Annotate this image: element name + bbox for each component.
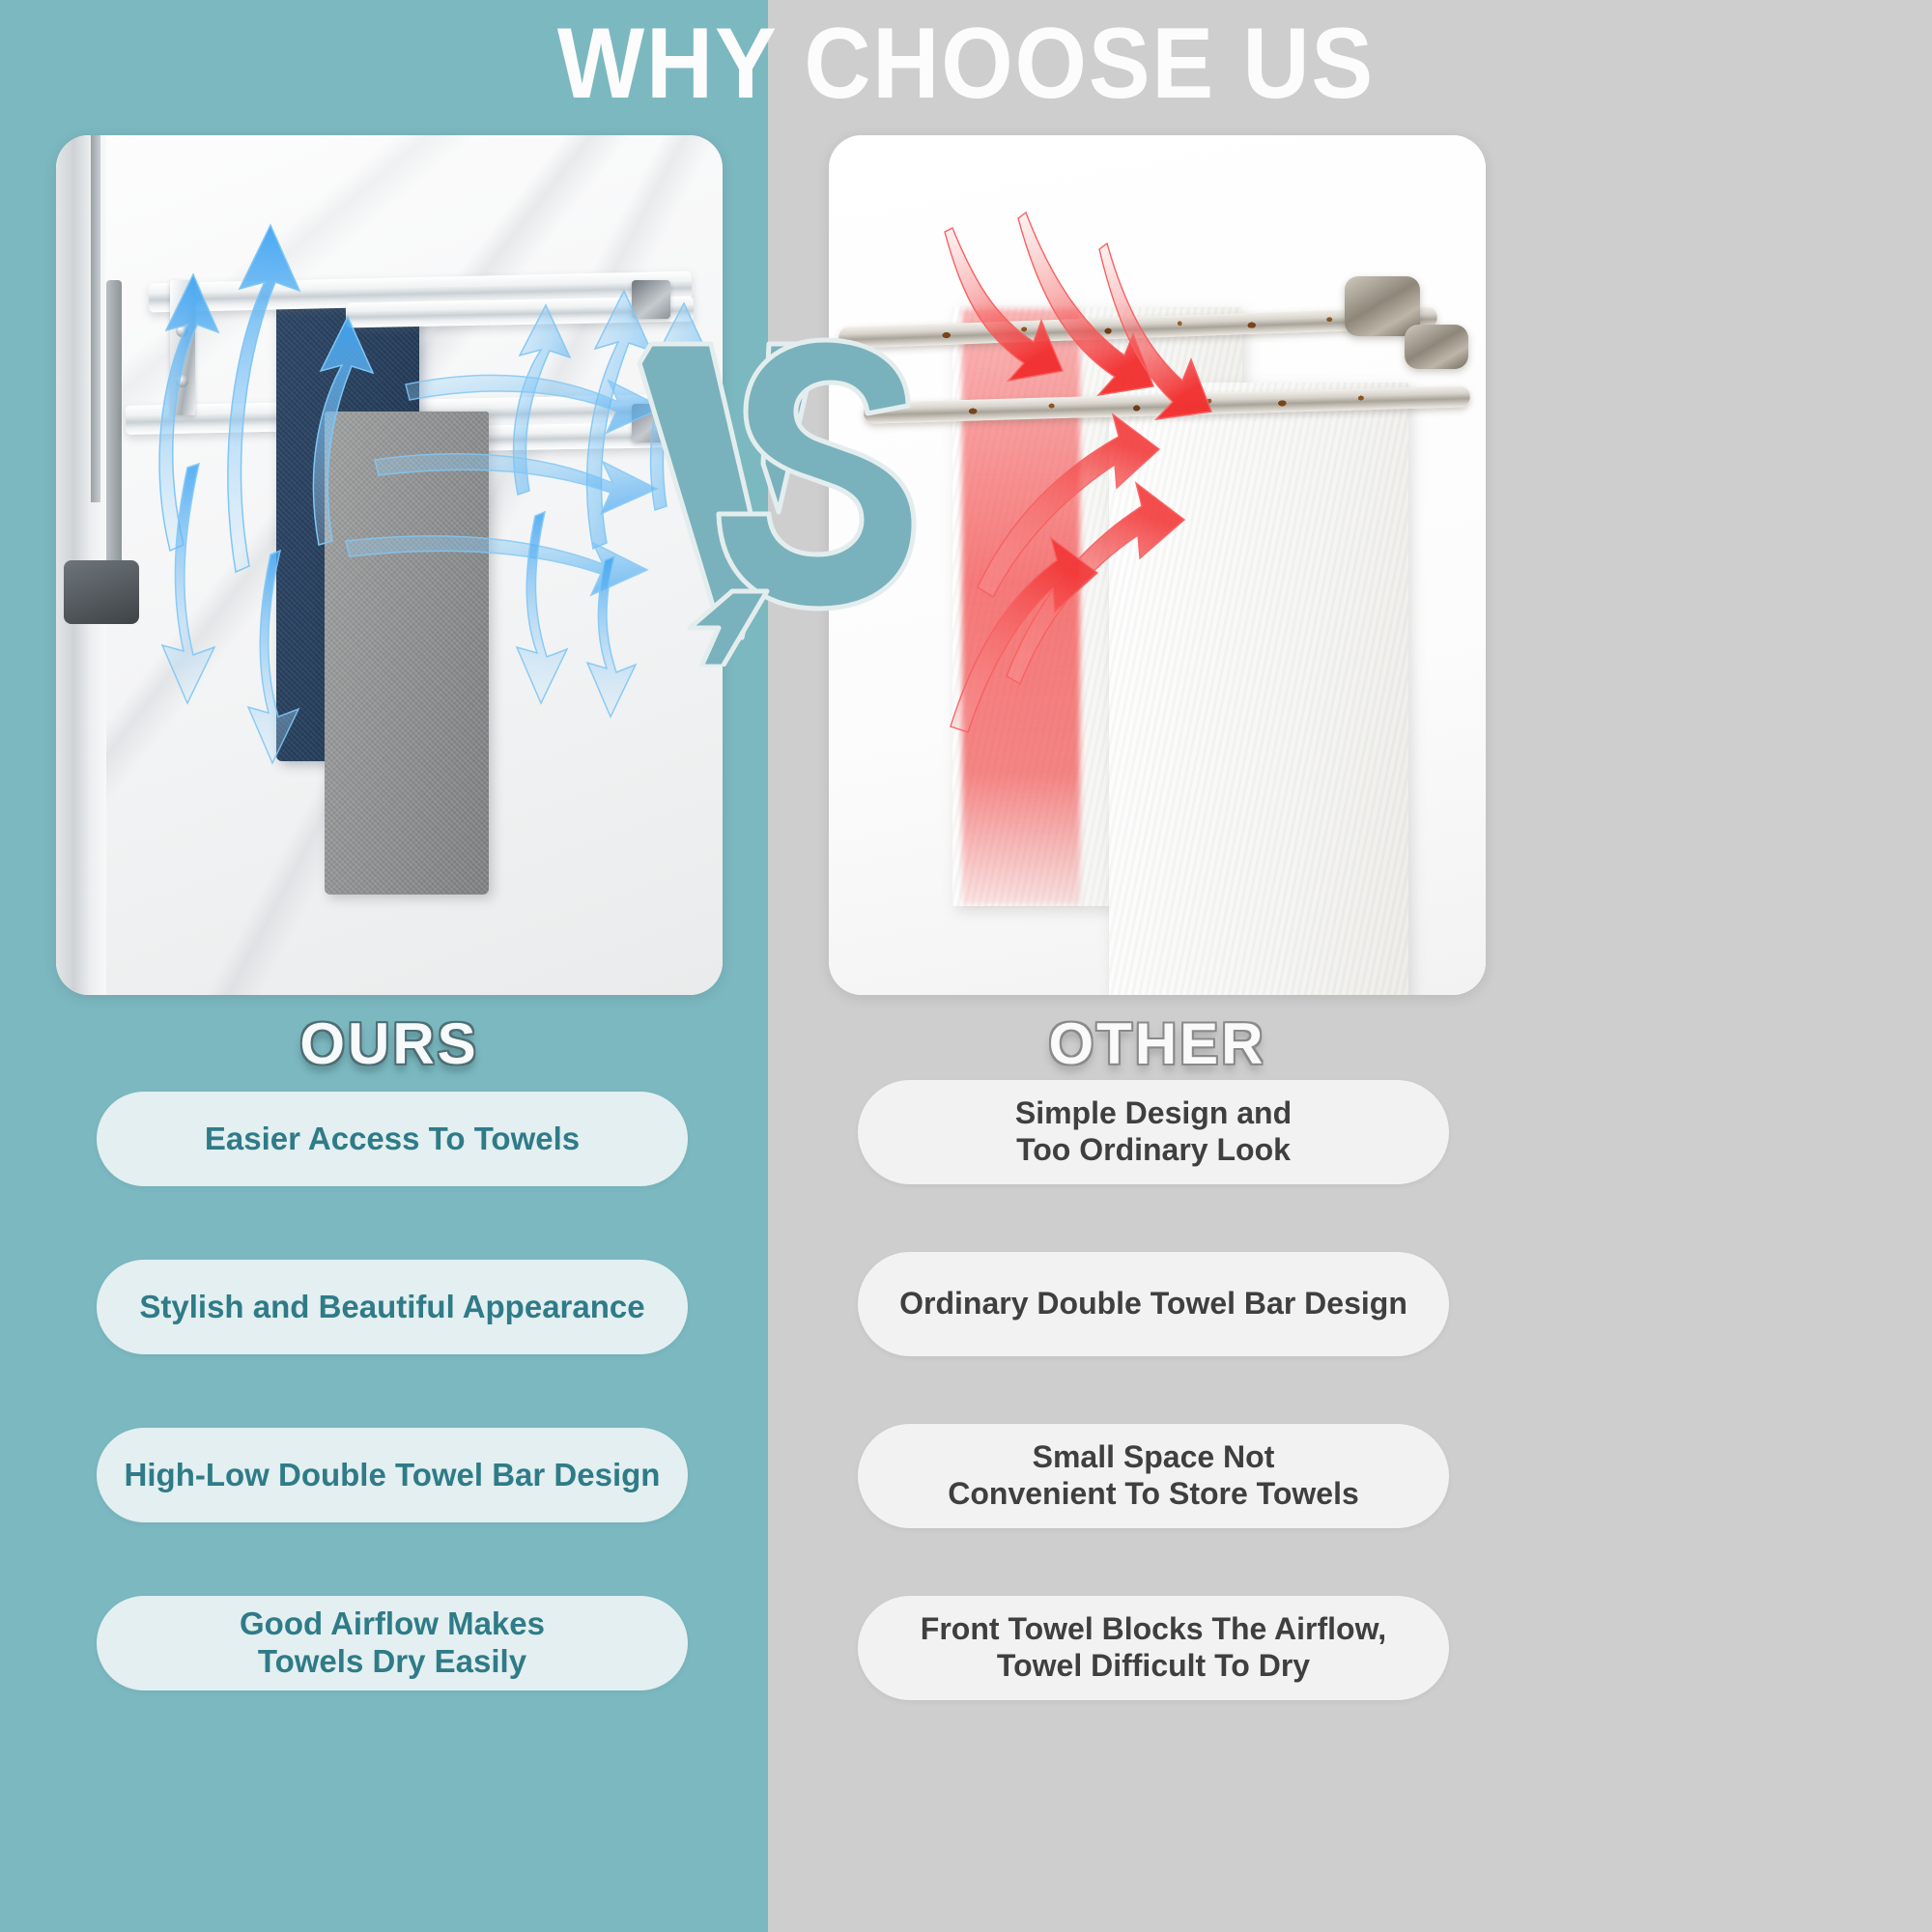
other-feature-text: Small Space Not Convenient To Store Towe… [948,1439,1359,1513]
ours-feature-pill: Good Airflow Makes Towels Dry Easily [97,1596,688,1690]
ours-feature-text: High-Low Double Towel Bar Design [125,1457,661,1494]
other-feature-list: Simple Design and Too Ordinary Look Ordi… [858,1080,1449,1768]
other-feature-pill: Simple Design and Too Ordinary Look [858,1080,1449,1184]
blue-airflow-arrows-icon [56,135,723,995]
other-feature-pill: Small Space Not Convenient To Store Towe… [858,1424,1449,1528]
other-feature-text: Ordinary Double Towel Bar Design [899,1286,1407,1322]
other-feature-pill: Ordinary Double Towel Bar Design [858,1252,1449,1356]
other-feature-text: Simple Design and Too Ordinary Look [1015,1095,1292,1169]
other-label: OTHER [829,1010,1486,1077]
other-feature-text: Front Towel Blocks The Airflow, Towel Di… [921,1611,1386,1685]
other-feature-pill: Front Towel Blocks The Airflow, Towel Di… [858,1596,1449,1700]
ours-feature-text: Stylish and Beautiful Appearance [139,1289,644,1326]
ours-feature-text: Good Airflow Makes Towels Dry Easily [240,1605,545,1681]
ours-feature-list: Easier Access To Towels Stylish and Beau… [97,1092,688,1764]
ours-feature-text: Easier Access To Towels [205,1121,580,1158]
ours-feature-pill: Easier Access To Towels [97,1092,688,1186]
other-product-image [829,135,1486,995]
ours-feature-pill: High-Low Double Towel Bar Design [97,1428,688,1522]
red-blocked-airflow-arrows-icon [829,135,1486,995]
page-title: WHY CHOOSE US [77,14,1855,114]
ours-product-image [56,135,723,995]
ours-feature-pill: Stylish and Beautiful Appearance [97,1260,688,1354]
ours-label: OURS [56,1010,723,1077]
